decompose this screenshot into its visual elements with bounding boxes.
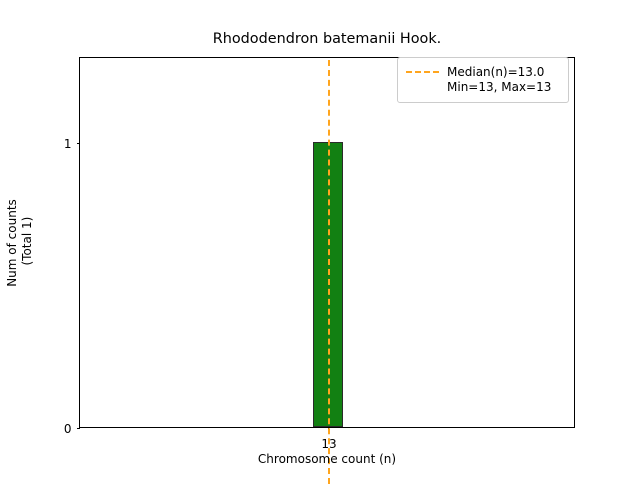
y-axis-label: Num of counts (Total 1) [5, 199, 35, 287]
legend: Median(n)=13.0 Min=13, Max=13 [397, 57, 569, 103]
dashed-line-icon [406, 65, 439, 79]
chart-title: Rhododendron batemanii Hook. [79, 31, 575, 48]
legend-entry-text: Median(n)=13.0 Min=13, Max=13 [447, 65, 551, 95]
chart-figure: Rhododendron batemanii Hook. Num of coun… [0, 0, 640, 480]
y-tick-mark-0: 0 [77, 428, 81, 429]
legend-entry-median: Median(n)=13.0 Min=13, Max=13 [406, 65, 559, 95]
y-tick-label-0: 0 [64, 423, 72, 435]
plot-area: 0 1 13 [79, 57, 575, 428]
y-tick-mark-1: 1 [77, 143, 81, 144]
median-line [328, 60, 330, 484]
x-axis-label: Chromosome count (n) [79, 452, 575, 466]
y-tick-label-1: 1 [64, 138, 72, 150]
y-axis-label-container: Num of counts (Total 1) [0, 57, 40, 428]
legend-label-median: Median(n)=13.0 [447, 65, 551, 80]
legend-label-minmax: Min=13, Max=13 [447, 80, 551, 95]
